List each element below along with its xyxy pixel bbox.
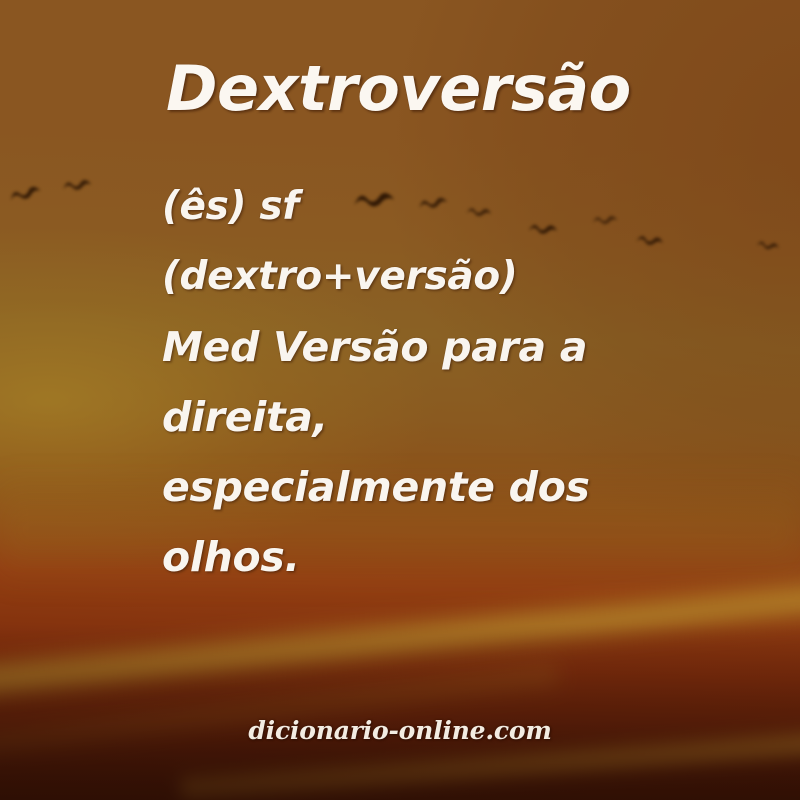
definition-line-1: Med Versão para a bbox=[162, 312, 632, 382]
pronunciation-and-class: (ês) sf bbox=[162, 172, 632, 242]
definition-card: Dextroversão (ês) sf (dextro+versão) Med… bbox=[0, 0, 800, 800]
headword: Dextroversão bbox=[166, 52, 631, 125]
definition-line-3: especialmente dos bbox=[162, 452, 632, 522]
definition-block: (ês) sf (dextro+versão) Med Versão para … bbox=[162, 172, 632, 592]
definition-line-2: direita, bbox=[162, 382, 632, 452]
entry-text: Dextroversão (ês) sf (dextro+versão) Med… bbox=[0, 0, 800, 800]
site-watermark: dicionario-online.com bbox=[0, 716, 800, 745]
etymology: (dextro+versão) bbox=[162, 242, 632, 312]
definition-line-4: olhos. bbox=[162, 522, 632, 592]
